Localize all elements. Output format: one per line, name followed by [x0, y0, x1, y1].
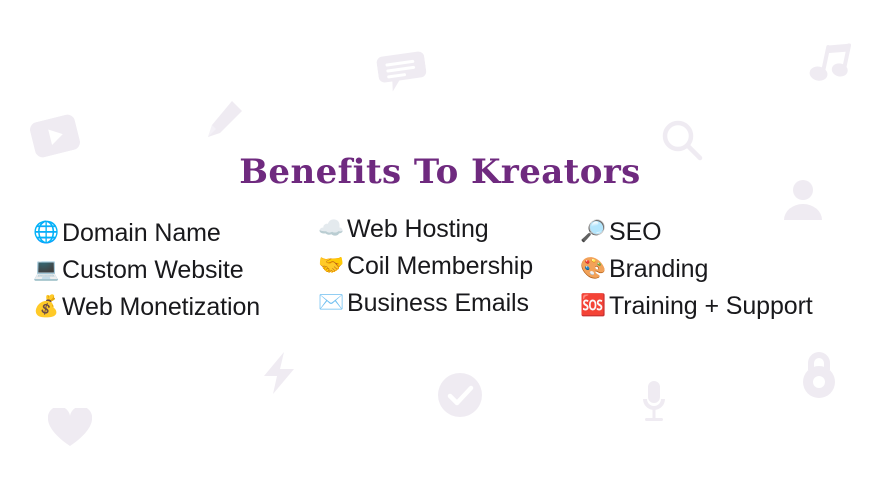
check-circle-icon	[438, 373, 482, 417]
benefit-item: 💻 Custom Website	[33, 251, 260, 288]
benefit-label: Branding	[609, 254, 708, 284]
benefit-label: Training + Support	[609, 291, 813, 321]
benefits-column-3: 🔎 SEO 🎨 Branding 🆘 Training + Support	[580, 213, 813, 324]
music-note-icon	[808, 37, 855, 90]
benefit-item: 🎨 Branding	[580, 250, 813, 287]
benefit-label: Business Emails	[347, 288, 529, 318]
microphone-icon	[640, 381, 668, 423]
laptop-emoji: 💻	[33, 259, 62, 280]
benefit-label: Custom Website	[62, 255, 244, 285]
benefit-item: 🤝 Coil Membership	[318, 247, 533, 284]
lightning-bolt-icon	[262, 352, 296, 394]
benefit-item: ☁️ Web Hosting	[318, 210, 533, 247]
pencil-icon	[202, 97, 246, 141]
palette-emoji: 🎨	[580, 258, 609, 279]
speech-bubble-icon	[375, 47, 428, 95]
benefit-item: ✉️ Business Emails	[318, 284, 533, 321]
benefit-label: Web Hosting	[347, 214, 489, 244]
benefit-label: Coil Membership	[347, 251, 533, 281]
benefits-columns: 🌐 Domain Name 💻 Custom Website 💰 Web Mon…	[0, 214, 880, 334]
cloud-emoji: ☁️	[318, 218, 347, 239]
page-title: Benefits To Kreators	[239, 151, 640, 193]
magnifier-emoji: 🔎	[580, 221, 609, 242]
slide-canvas: Benefits To Kreators 🌐 Domain Name 💻 Cus…	[0, 0, 880, 485]
handshake-emoji: 🤝	[318, 255, 347, 276]
envelope-emoji: ✉️	[318, 292, 347, 313]
benefit-item: 💰 Web Monetization	[33, 288, 260, 325]
padlock-icon	[800, 352, 838, 398]
benefit-label: Web Monetization	[62, 292, 260, 322]
benefit-item: 🌐 Domain Name	[33, 214, 260, 251]
benefit-item: 🔎 SEO	[580, 213, 813, 250]
benefit-label: Domain Name	[62, 218, 221, 248]
money-bag-emoji: 💰	[33, 296, 62, 317]
title-container: Benefits To Kreators	[0, 151, 880, 193]
sos-emoji: 🆘	[580, 295, 609, 316]
benefit-label: SEO	[609, 217, 662, 247]
heart-icon	[48, 408, 92, 448]
benefit-item: 🆘 Training + Support	[580, 287, 813, 324]
benefits-column-1: 🌐 Domain Name 💻 Custom Website 💰 Web Mon…	[33, 214, 260, 325]
globe-emoji: 🌐	[33, 222, 62, 243]
benefits-column-2: ☁️ Web Hosting 🤝 Coil Membership ✉️ Busi…	[318, 210, 533, 321]
